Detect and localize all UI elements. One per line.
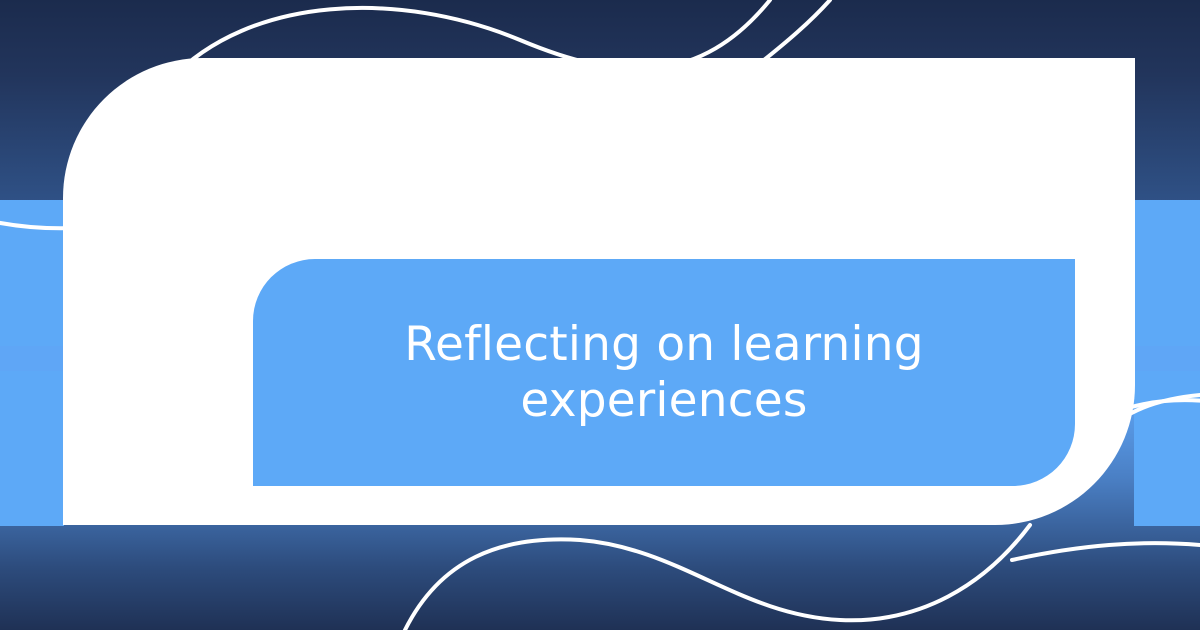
right-blue-band-lower — [1134, 371, 1200, 526]
banner-canvas: Reflecting on learning experiences — [0, 0, 1200, 630]
left-blue-band-lower — [0, 371, 64, 526]
left-blue-band — [0, 200, 64, 346]
right-blue-band — [1134, 200, 1200, 346]
title-panel: Reflecting on learning experiences — [253, 259, 1075, 486]
white-card: Reflecting on learning experiences — [63, 58, 1135, 525]
page-title: Reflecting on learning experiences — [344, 317, 984, 428]
